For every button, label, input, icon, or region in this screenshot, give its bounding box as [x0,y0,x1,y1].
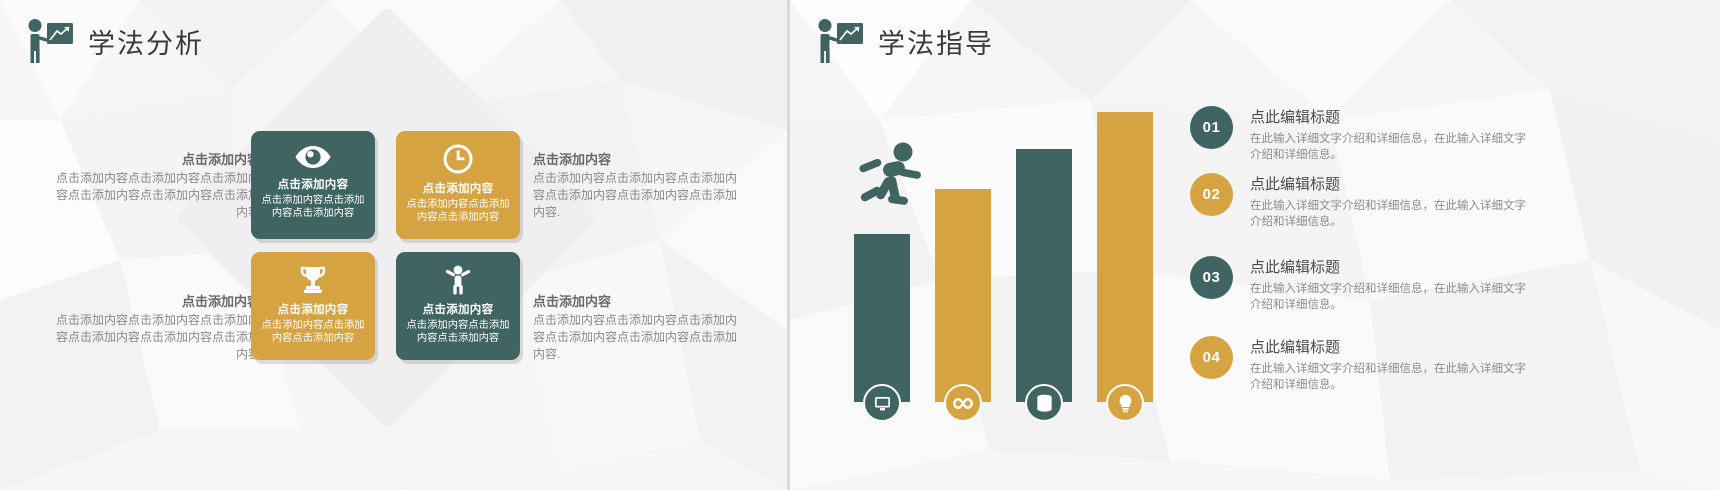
tile-title: 点击添加内容 [423,180,494,196]
item-number: 03 [1190,256,1233,299]
item-body: 在此输入详细文字介绍和详细信息，在此输入详细文字介绍和详细信息。 [1250,131,1530,163]
tile-clock[interactable]: 点击添加内容 点击添加内容点击添加内容点击添加内容 [396,131,520,239]
text-block-top-right: 点击添加内容 点击添加内容点击添加内容点击添加内容点击添加内容点击添加内容点击添… [533,150,748,221]
database-icon [1036,394,1053,412]
bar-bubble-1[interactable] [863,384,901,422]
bar-3 [1016,149,1072,402]
tile-body: 点击添加内容点击添加内容点击添加内容 [404,198,512,224]
tile-eye[interactable]: 点击添加内容 点击添加内容点击添加内容点击添加内容 [251,131,375,239]
tile-trophy[interactable]: 点击添加内容 点击添加内容点击添加内容点击添加内容 [251,252,375,360]
slide-learning-analysis: 学法分析 点击添加内容 点击添加内容点击添加内容点击添加内容点击添加内容点击添加… [0,0,787,490]
bar-bubble-3[interactable] [1025,384,1063,422]
bar-chart [850,112,1150,402]
text-block-title: 点击添加内容 [45,292,260,312]
bar-2 [935,189,991,402]
tile-body: 点击添加内容点击添加内容点击添加内容 [404,319,512,345]
tile-title: 点击添加内容 [278,176,349,192]
tile-body: 点击添加内容点击添加内容点击添加内容 [259,319,367,345]
page-title: 学法指导 [812,18,994,64]
item-number: 01 [1190,106,1233,149]
item-title: 点此编辑标题 [1250,107,1530,128]
item-body: 在此输入详细文字介绍和详细信息，在此输入详细文字介绍和详细信息。 [1250,361,1530,393]
tile-person[interactable]: 点击添加内容 点击添加内容点击添加内容点击添加内容 [396,252,520,360]
bar-bubble-2[interactable] [944,384,982,422]
monitor-icon [874,395,891,412]
tile-body: 点击添加内容点击添加内容点击添加内容 [259,194,367,220]
list-item-01[interactable]: 01 点此编辑标题 在此输入详细文字介绍和详细信息，在此输入详细文字介绍和详细信… [1190,106,1530,163]
page-title: 学法分析 [22,18,204,64]
infinity-icon [953,397,973,410]
bulb-icon [1118,394,1133,413]
item-title: 点此编辑标题 [1250,337,1530,358]
tile-title: 点击添加内容 [278,301,349,317]
list-item-02[interactable]: 02 点此编辑标题 在此输入详细文字介绍和详细信息，在此输入详细文字介绍和详细信… [1190,173,1530,230]
runner-icon [857,140,927,210]
item-number: 02 [1190,173,1233,216]
bar-1 [854,234,910,402]
text-block-body: 点击添加内容点击添加内容点击添加内容点击添加内容点击添加内容点击添加内容. [533,312,748,363]
text-block-body: 点击添加内容点击添加内容点击添加内容点击添加内容点击添加内容点击添加内容 [45,170,260,221]
text-block-bottom-right: 点击添加内容 点击添加内容点击添加内容点击添加内容点击添加内容点击添加内容点击添… [533,292,748,363]
tile-title: 点击添加内容 [423,301,494,317]
slide-learning-guidance: 学法指导 [790,0,1720,490]
list-item-03[interactable]: 03 点此编辑标题 在此输入详细文字介绍和详细信息，在此输入详细文字介绍和详细信… [1190,256,1530,313]
text-block-body: 点击添加内容点击添加内容点击添加内容点击添加内容点击添加内容点击添加内容 [45,312,260,363]
item-title: 点此编辑标题 [1250,257,1530,278]
text-block-title: 点击添加内容 [533,150,748,170]
eye-icon [294,144,332,170]
page-title-text: 学法分析 [88,22,204,61]
bar-bubble-4[interactable] [1106,384,1144,422]
list-item-04[interactable]: 04 点此编辑标题 在此输入详细文字介绍和详细信息，在此输入详细文字介绍和详细信… [1190,336,1530,393]
text-block-title: 点击添加内容 [533,292,748,312]
item-number: 04 [1190,336,1233,379]
bar-4 [1097,112,1153,402]
slide-deck: 学法分析 点击添加内容 点击添加内容点击添加内容点击添加内容点击添加内容点击添加… [0,0,1720,490]
trophy-icon [298,265,328,295]
page-title-text: 学法指导 [878,22,994,61]
text-block-top-left: 点击添加内容 点击添加内容点击添加内容点击添加内容点击添加内容点击添加内容点击添… [45,150,260,221]
presenter-icon [22,18,74,64]
clock-icon [443,144,473,174]
item-body: 在此输入详细文字介绍和详细信息，在此输入详细文字介绍和详细信息。 [1250,281,1530,313]
item-body: 在此输入详细文字介绍和详细信息，在此输入详细文字介绍和详细信息。 [1250,198,1530,230]
item-title: 点此编辑标题 [1250,174,1530,195]
text-block-body: 点击添加内容点击添加内容点击添加内容点击添加内容点击添加内容点击添加内容. [533,170,748,221]
text-block-title: 点击添加内容 [45,150,260,170]
person-icon [443,265,473,295]
presenter-icon [812,18,864,64]
text-block-bottom-left: 点击添加内容 点击添加内容点击添加内容点击添加内容点击添加内容点击添加内容点击添… [45,292,260,363]
